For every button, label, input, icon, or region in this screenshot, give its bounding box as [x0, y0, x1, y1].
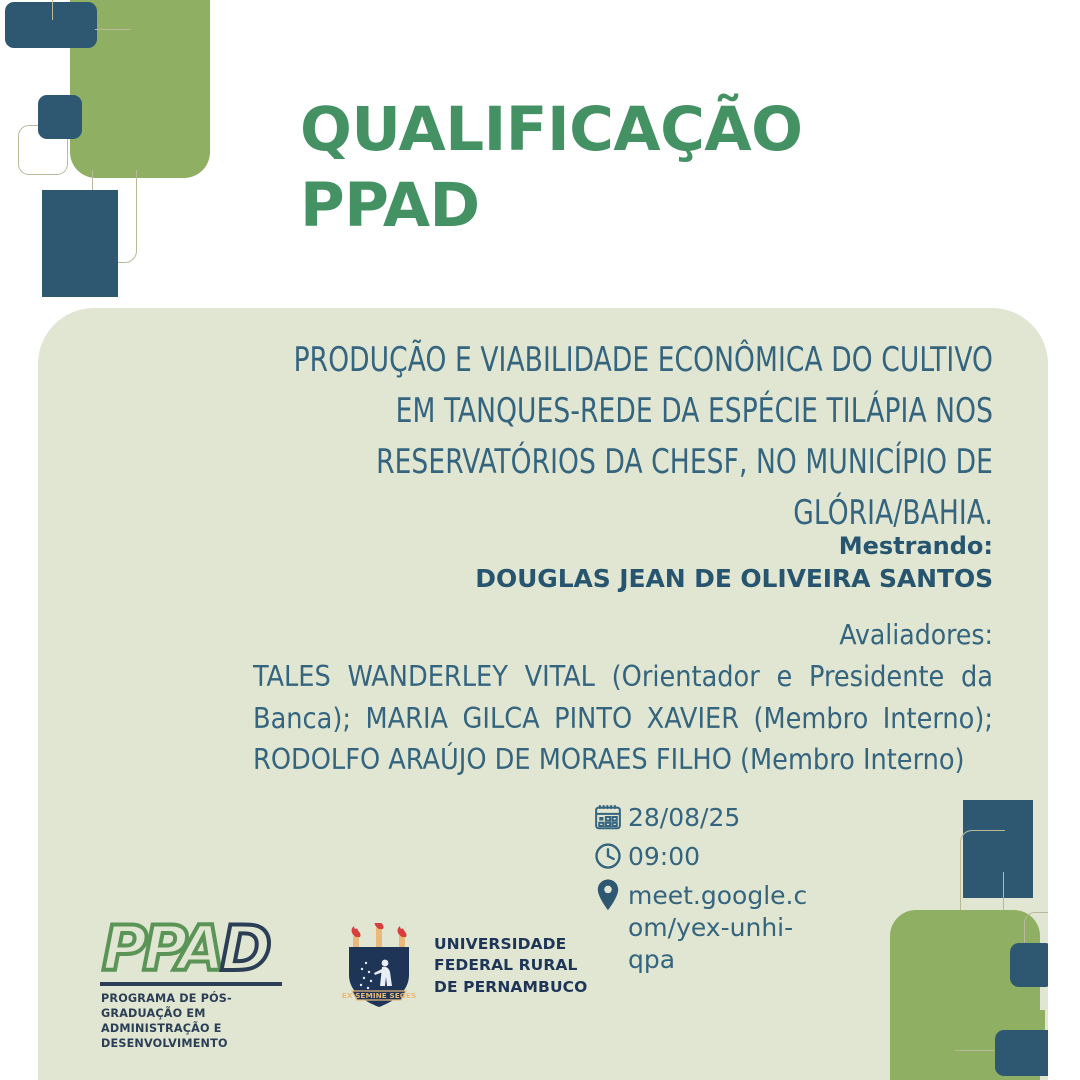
decor-blue-rounded-top: [5, 2, 97, 48]
poster-canvas: QUALIFICAÇÃO PPAD PRODUÇÃO E VIABILIDADE…: [0, 0, 1080, 1080]
ppad-subtitle-line-1: PROGRAMA DE PÓS-GRADUAÇÃO EM: [101, 991, 293, 1021]
decor-line-horizontal-bottom: [955, 1050, 997, 1051]
event-link-value[interactable]: meet.google.com/yex-unhi-qpa: [628, 878, 813, 975]
logos-row: PPAD PROGRAMA DE PÓS-GRADUAÇÃO EM ADMINI…: [98, 920, 587, 1051]
mestrando-label: Mestrando:: [338, 530, 993, 562]
ppad-wordmark-navy: D: [220, 912, 266, 985]
ufrpe-name-line-2: FEDERAL RURAL: [434, 955, 587, 976]
mestrando-name: DOUGLAS JEAN DE OLIVEIRA SANTOS: [338, 562, 993, 596]
page-title: QUALIFICAÇÃO PPAD: [300, 92, 940, 245]
ufrpe-name-line-3: DE PERNAMBUCO: [434, 977, 587, 998]
ufrpe-name-line-1: UNIVERSIDADE: [434, 934, 587, 955]
decor-blue-tall-top: [42, 190, 118, 297]
content-panel: PRODUÇÃO E VIABILIDADE ECONÔMICA DO CULT…: [38, 308, 1048, 1080]
decor-line-vertical-top: [52, 0, 53, 20]
map-pin-icon: [588, 878, 628, 912]
calendar-icon: [588, 800, 628, 834]
event-date-value: 28/08/25: [628, 800, 740, 834]
page-title-line-2: PPAD: [300, 168, 940, 244]
decor-line-horizontal-top: [95, 29, 131, 30]
event-date-row: 28/08/25: [588, 800, 968, 834]
page-title-line-1: QUALIFICAÇÃO: [300, 92, 940, 168]
decor-blue-square-bottom: [1010, 943, 1048, 987]
ppad-wordmark: PPAD: [102, 920, 293, 979]
ufrpe-name: UNIVERSIDADE FEDERAL RURAL DE PERNAMBUCO: [434, 934, 587, 998]
ppad-subtitle-line-2: ADMINISTRAÇÃO E DESENVOLVIMENTO: [101, 1021, 293, 1051]
avaliadores-text-last: RODOLFO ARAÚJO DE MORAES FILHO (Membro I…: [253, 743, 965, 776]
ufrpe-motto: EX SEMINE SEGES: [342, 991, 416, 1000]
event-time-row: 09:00: [588, 839, 968, 873]
avaliadores-label: Avaliadores:: [338, 618, 993, 651]
mestrando-block: Mestrando: DOUGLAS JEAN DE OLIVEIRA SANT…: [338, 530, 993, 596]
event-time-value: 09:00: [628, 839, 700, 873]
ufrpe-crest-icon: EX SEMINE SEGES: [338, 923, 420, 1009]
thesis-title: PRODUÇÃO E VIABILIDADE ECONÔMICA DO CULT…: [249, 335, 993, 539]
ppad-logo: PPAD PROGRAMA DE PÓS-GRADUAÇÃO EM ADMINI…: [98, 920, 293, 1051]
avaliadores-text-main: TALES WANDERLEY VITAL (Orientador e Pres…: [253, 660, 993, 735]
clock-icon: [588, 839, 628, 873]
ufrpe-logo: EX SEMINE SEGES UNIVERSIDADE FEDERAL RUR…: [338, 923, 587, 1009]
ppad-wordmark-green: PPA: [102, 912, 220, 985]
decor-blue-rounded-bottom: [995, 1030, 1048, 1076]
decor-blue-square-top: [38, 95, 82, 139]
avaliadores-list: TALES WANDERLEY VITAL (Orientador e Pres…: [253, 656, 993, 781]
